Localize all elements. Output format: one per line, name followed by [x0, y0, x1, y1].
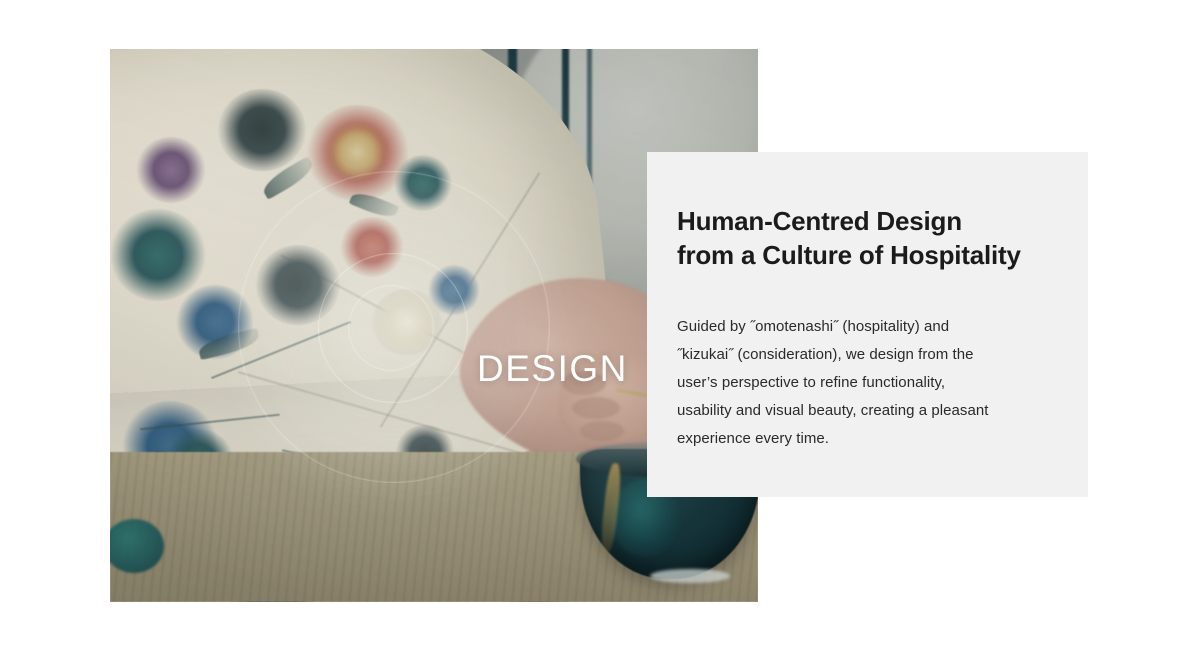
card-body-text: Guided by ˝omotenashi˝ (hospitality) and…	[677, 313, 1044, 453]
design-section: Panasonic	[0, 0, 1200, 650]
text-card: Human-Centred Design from a Culture of H…	[647, 152, 1088, 497]
circle-ring-watermark-core	[348, 285, 434, 371]
card-heading: Human-Centred Design from a Culture of H…	[677, 204, 1044, 272]
design-overlay-label: DESIGN	[477, 350, 628, 387]
